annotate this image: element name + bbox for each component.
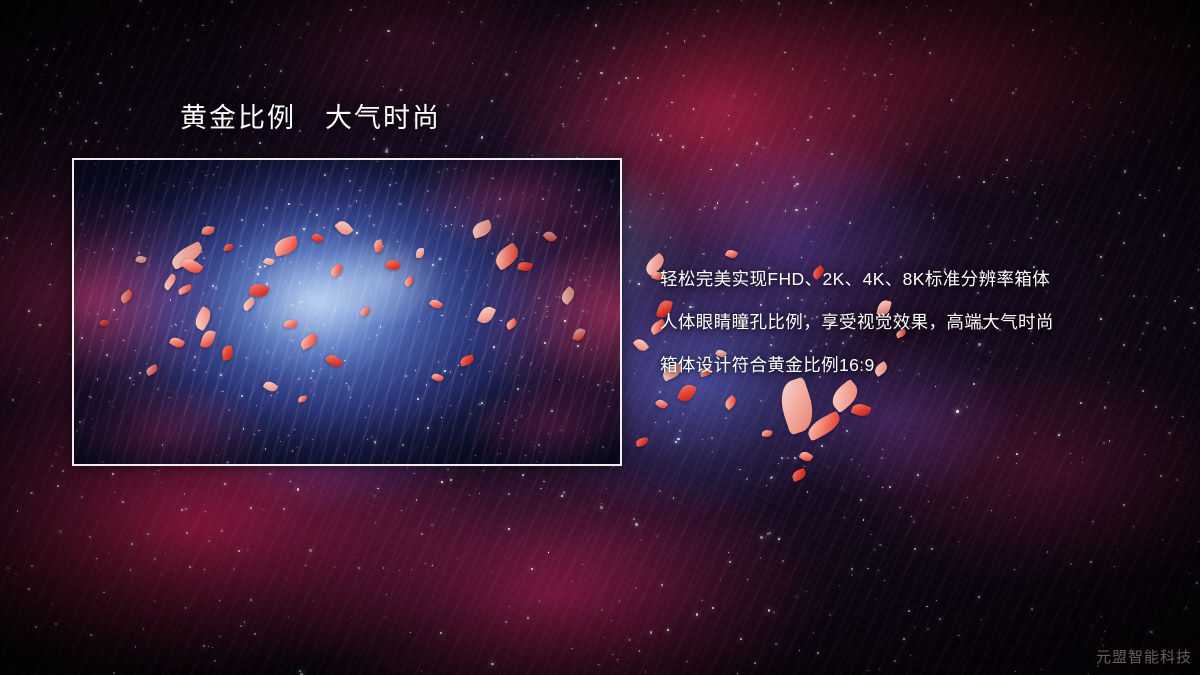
petal [635,437,648,447]
company-watermark: 元盟智能科技 [1096,646,1192,667]
petal [799,449,814,463]
feature-line-1: 轻松完美实现FHD、2K、4K、8K标准分辨率箱体 [660,258,1180,301]
feature-line-2: 人体眼睛瞳孔比例，享受视觉效果，高端大气时尚 [660,301,1180,344]
slide-title: 黄金比例 大气时尚 [180,101,441,135]
petal [723,395,739,411]
preview-vignette [74,160,620,464]
presentation-slide: 黄金比例 大气时尚 轻松完美实现FHD、2K、4K、8K标准分辨率箱体 人体眼睛… [0,0,1200,675]
petal [761,429,772,438]
petal [791,468,808,482]
petal [655,397,669,410]
petal [633,336,650,353]
feature-line-3: 箱体设计符合黄金比例16:9 [660,344,1180,387]
petal [850,401,871,418]
led-display-panel-preview[interactable] [72,158,622,466]
feature-description-list: 轻松完美实现FHD、2K、4K、8K标准分辨率箱体 人体眼睛瞳孔比例，享受视觉效… [660,258,1180,387]
